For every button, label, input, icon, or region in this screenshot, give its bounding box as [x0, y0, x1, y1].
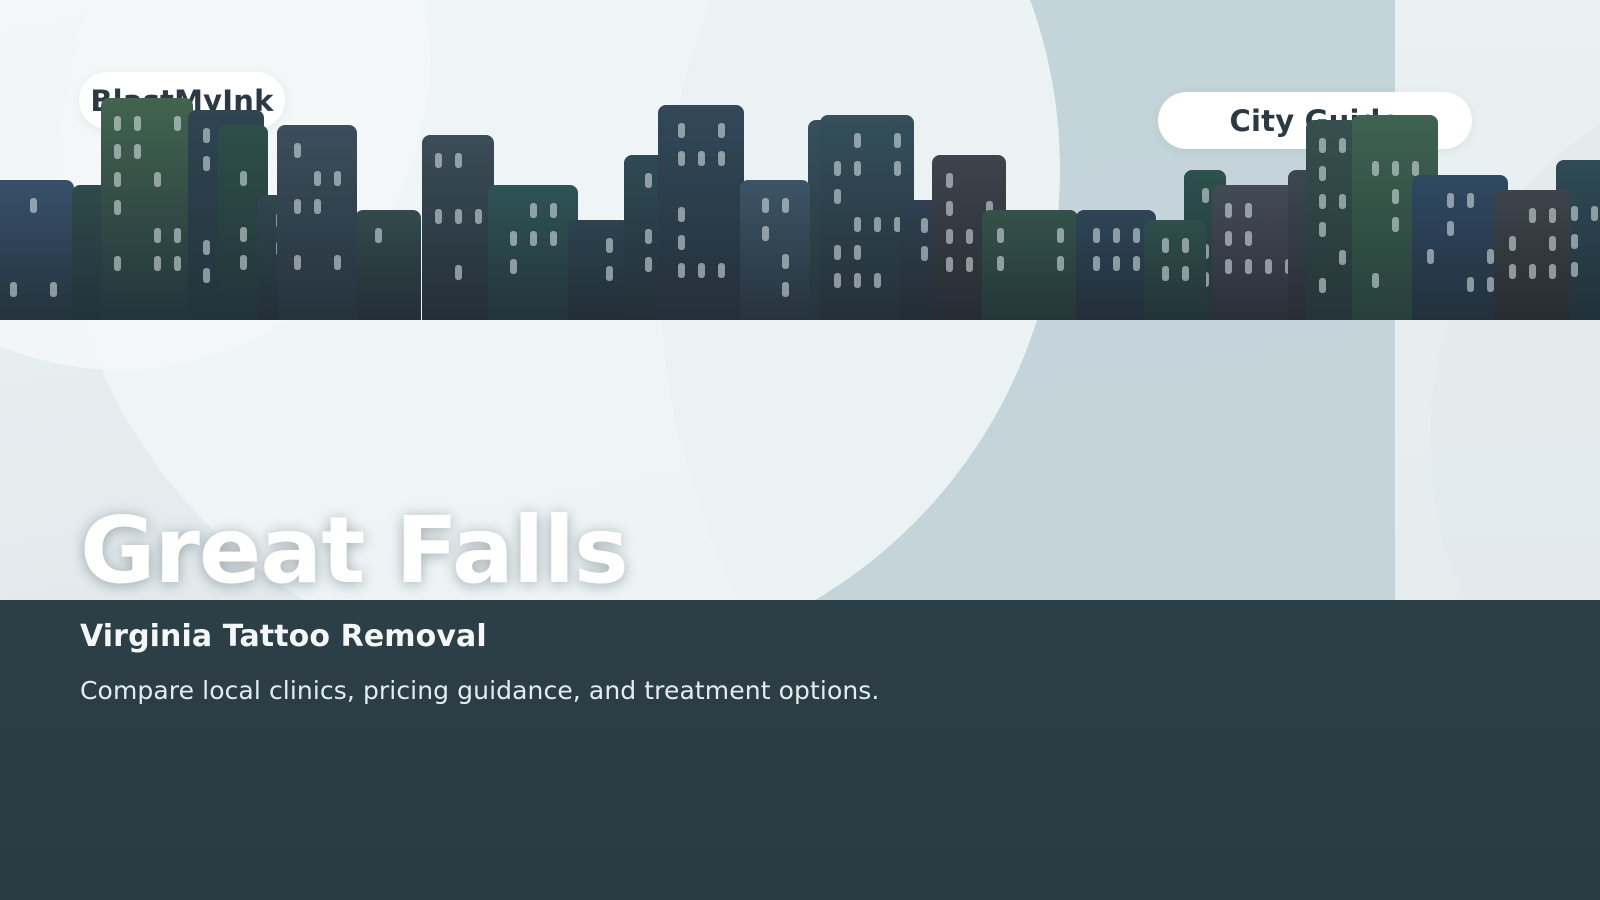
building-window [854, 133, 861, 148]
building-window [762, 226, 769, 241]
building-window [240, 227, 247, 242]
building-window [698, 263, 705, 278]
building-window [114, 172, 121, 187]
skyline-building [277, 125, 357, 320]
building-window [154, 172, 161, 187]
building-window [1245, 231, 1252, 246]
building-window [1412, 161, 1419, 176]
building-window [894, 161, 901, 176]
building-window [1182, 266, 1189, 281]
building-window [1549, 208, 1556, 223]
building-window [294, 255, 301, 270]
building-window [314, 171, 321, 186]
building-window [1487, 277, 1494, 292]
building-window [203, 268, 210, 283]
building-window [894, 133, 901, 148]
building-window [834, 273, 841, 288]
building-window [1162, 238, 1169, 253]
building-window [834, 245, 841, 260]
hero-copy-block: Great Falls Virginia Tattoo Removal Comp… [80, 505, 1280, 705]
building-window [1202, 188, 1209, 203]
building-window [874, 273, 881, 288]
building-window [1591, 206, 1598, 221]
hero-description: Compare local clinics, pricing guidance,… [80, 676, 1280, 705]
building-window [134, 116, 141, 131]
building-window [762, 198, 769, 213]
building-window [1245, 259, 1252, 274]
skyline-building [740, 180, 810, 320]
building-window [1467, 277, 1474, 292]
building-window [1392, 161, 1399, 176]
skyline-building [101, 98, 193, 320]
skyline-building [488, 185, 578, 320]
building-window [854, 217, 861, 232]
skyline-building [1144, 220, 1206, 320]
building-window [550, 231, 557, 246]
building-window [1057, 228, 1064, 243]
building-window [1549, 264, 1556, 279]
skyline-building [982, 210, 1078, 320]
building-window [1427, 249, 1434, 264]
building-window [698, 151, 705, 166]
building-window [834, 161, 841, 176]
building-window [606, 238, 613, 253]
building-window [455, 209, 462, 224]
skyline-building [568, 220, 630, 320]
building-window [946, 229, 953, 244]
building-window [1447, 193, 1454, 208]
building-window [114, 200, 121, 215]
building-window [294, 143, 301, 158]
building-window [966, 257, 973, 272]
building-window [1265, 259, 1272, 274]
region-subtitle: Virginia Tattoo Removal [80, 619, 1280, 654]
building-window [997, 228, 1004, 243]
building-window [678, 263, 685, 278]
building-window [1319, 166, 1326, 181]
building-window [946, 257, 953, 272]
building-window [203, 156, 210, 171]
building-window [966, 229, 973, 244]
building-window [530, 203, 537, 218]
building-window [921, 218, 928, 233]
building-window [154, 228, 161, 243]
building-window [1225, 203, 1232, 218]
building-window [1319, 138, 1326, 153]
building-window [718, 263, 725, 278]
building-window [375, 228, 382, 243]
building-window [455, 153, 462, 168]
building-window [1392, 189, 1399, 204]
building-window [114, 256, 121, 271]
building-window [1093, 256, 1100, 271]
building-window [1057, 256, 1064, 271]
building-window [678, 207, 685, 222]
building-window [1529, 264, 1536, 279]
building-window [114, 116, 121, 131]
city-guide-hero: BlastMyInk City Guide Great Falls Virgin… [0, 0, 1600, 900]
building-window [203, 128, 210, 143]
building-window [1529, 208, 1536, 223]
building-window [718, 151, 725, 166]
building-window [50, 282, 57, 297]
skyline-building [1494, 190, 1570, 320]
building-window [1133, 228, 1140, 243]
building-window [678, 151, 685, 166]
building-window [1113, 228, 1120, 243]
building-window [1509, 264, 1516, 279]
building-window [1319, 278, 1326, 293]
building-window [854, 273, 861, 288]
building-window [240, 171, 247, 186]
building-window [921, 246, 928, 261]
building-window [854, 245, 861, 260]
building-window [435, 209, 442, 224]
building-window [645, 229, 652, 244]
skyline-building [0, 180, 74, 320]
building-window [1113, 256, 1120, 271]
building-window [1319, 194, 1326, 209]
building-window [606, 266, 613, 281]
building-window [997, 256, 1004, 271]
building-window [294, 199, 301, 214]
building-window [550, 203, 557, 218]
building-window [718, 123, 725, 138]
building-window [334, 255, 341, 270]
building-window [1162, 266, 1169, 281]
building-window [1487, 249, 1494, 264]
building-window [645, 173, 652, 188]
building-window [30, 198, 37, 213]
building-window [510, 259, 517, 274]
building-window [510, 231, 517, 246]
skyline-building [355, 210, 421, 320]
building-window [435, 153, 442, 168]
building-window [1372, 161, 1379, 176]
building-window [1133, 256, 1140, 271]
building-window [678, 235, 685, 250]
building-window [874, 217, 881, 232]
building-window [1093, 228, 1100, 243]
building-window [1319, 222, 1326, 237]
building-window [1447, 221, 1454, 236]
building-window [946, 201, 953, 216]
skyline-building [422, 135, 494, 320]
building-window [334, 171, 341, 186]
building-window [174, 228, 181, 243]
building-window [1509, 236, 1516, 251]
building-window [1245, 203, 1252, 218]
building-window [1467, 193, 1474, 208]
building-window [946, 173, 953, 188]
building-window [10, 282, 17, 297]
building-window [114, 144, 121, 159]
building-window [645, 257, 652, 272]
building-window [154, 256, 161, 271]
skyline-building [658, 105, 744, 320]
building-window [314, 199, 321, 214]
building-window [1571, 234, 1578, 249]
building-window [134, 144, 141, 159]
building-window [174, 256, 181, 271]
building-window [1571, 206, 1578, 221]
building-window [782, 282, 789, 297]
building-window [1392, 217, 1399, 232]
building-window [678, 123, 685, 138]
building-window [834, 189, 841, 204]
building-window [1339, 194, 1346, 209]
building-window [1549, 236, 1556, 251]
building-window [1225, 259, 1232, 274]
building-window [782, 254, 789, 269]
building-window [782, 198, 789, 213]
building-window [854, 161, 861, 176]
building-window [174, 116, 181, 131]
building-window [455, 265, 462, 280]
building-window [203, 240, 210, 255]
building-window [1372, 273, 1379, 288]
building-window [530, 231, 537, 246]
page-title: Great Falls [80, 505, 1280, 597]
building-window [1182, 238, 1189, 253]
building-window [475, 209, 482, 224]
building-window [1339, 250, 1346, 265]
building-window [1339, 138, 1346, 153]
skyline-building [1306, 120, 1358, 320]
building-window [1571, 262, 1578, 277]
building-window [1225, 231, 1232, 246]
building-window [240, 255, 247, 270]
